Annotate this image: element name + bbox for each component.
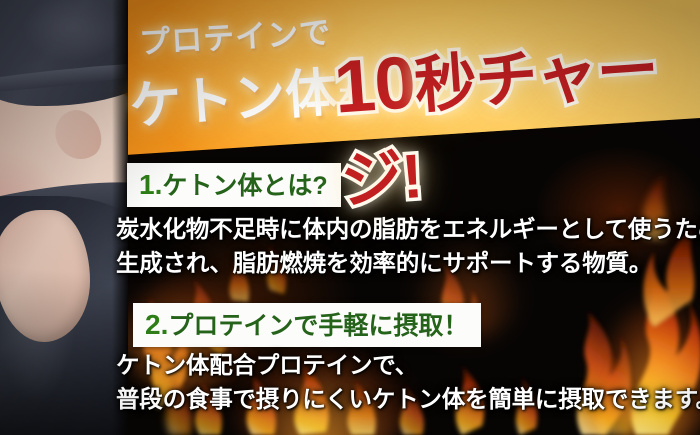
section-2-title: プロテインで手軽に摂取！ (168, 312, 468, 340)
section-1-title: ケトン体とは? (162, 172, 327, 200)
section-2-body-line-2: 普段の食事で摂りにくいケトン体を簡単に摂取できます。 (116, 382, 700, 416)
section-1-body: 炭水化物不足時に体内の脂肪をエネルギーとして使うために 生成され、脂肪燃焼を効率… (116, 212, 700, 280)
section-1-body-line-1: 炭水化物不足時に体内の脂肪をエネルギーとして使うために (116, 212, 700, 246)
section-2-badge: 2.プロテインで手軽に摂取！ (133, 303, 481, 347)
headline-number: 10 (332, 40, 418, 128)
headline-keyword: ケトン体 (128, 64, 340, 136)
promo-banner: プロテインで ケトン体を 10秒チャージ! 1.ケトン体とは? 炭水化物不足時に… (0, 0, 700, 435)
section-2-body: ケトン体配合プロテインで、 普段の食事で摂りにくいケトン体を簡単に摂取できます。 (116, 348, 700, 416)
headline-line-2-red: 10秒チャージ! (331, 16, 700, 221)
section-1-body-line-2: 生成され、脂肪燃焼を効率的にサポートする物質。 (116, 246, 700, 280)
section-2-number: 2 (145, 309, 161, 340)
section-2-body-line-1: ケトン体配合プロテインで、 (116, 348, 700, 382)
section-1-number: 1 (139, 169, 155, 200)
section-1-badge: 1.ケトン体とは? (127, 163, 341, 207)
